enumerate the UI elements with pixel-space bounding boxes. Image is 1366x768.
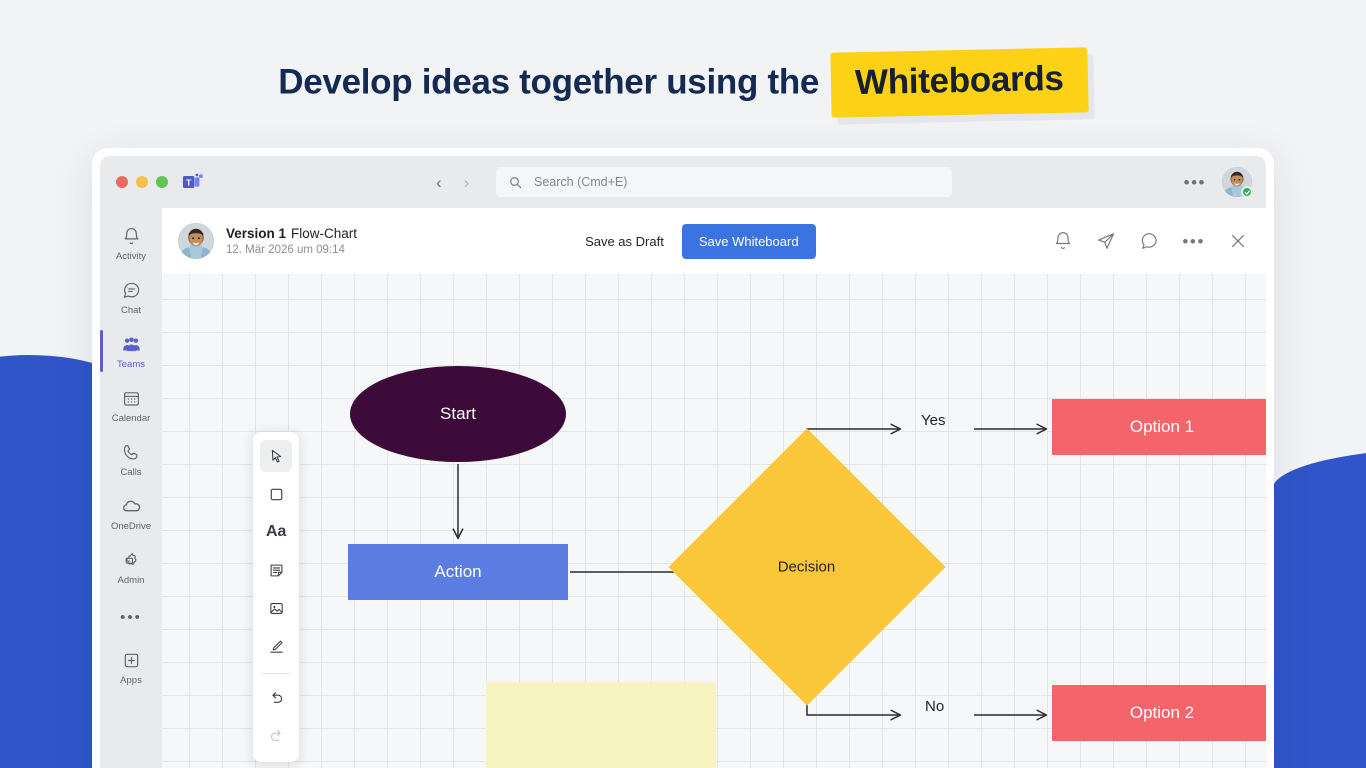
sidebar-item-activity[interactable]: Activity bbox=[100, 216, 162, 270]
palette-divider bbox=[262, 673, 290, 674]
sidebar-item-calls[interactable]: Calls bbox=[100, 432, 162, 486]
headline-highlight-badge: Whiteboards bbox=[830, 47, 1088, 117]
whiteboard-meta: Version 1Flow-Chart 12. Mär 2026 um 09:1… bbox=[226, 226, 357, 256]
page-root: Develop ideas together using theWhiteboa… bbox=[0, 0, 1366, 768]
flowchart-node-action[interactable]: Action bbox=[348, 544, 568, 600]
shape-rectangle-tool[interactable] bbox=[260, 478, 292, 510]
select-cursor-tool[interactable] bbox=[260, 440, 292, 472]
node-label: Start bbox=[440, 404, 476, 424]
search-input[interactable]: Search (Cmd+E) bbox=[496, 167, 952, 197]
titlebar-right-cluster: ••• bbox=[1184, 156, 1252, 208]
decorative-blue-shape-right bbox=[1272, 448, 1366, 768]
search-icon bbox=[509, 176, 522, 189]
flowchart-node-option-2[interactable]: Option 2 bbox=[1052, 685, 1266, 741]
window-navigation: ‹ › bbox=[436, 156, 469, 208]
app-left-rail: Activity Chat bbox=[100, 208, 162, 768]
phone-icon bbox=[122, 441, 141, 465]
microsoft-teams-logo-icon: T bbox=[182, 171, 204, 193]
window-traffic-lights bbox=[116, 176, 168, 188]
sidebar-item-label: Admin bbox=[118, 576, 145, 586]
avatar-photo bbox=[178, 223, 214, 259]
node-label: Option 2 bbox=[1130, 703, 1194, 723]
minimize-window-button[interactable] bbox=[136, 176, 148, 188]
whiteboard-timestamp: 12. Mär 2026 um 09:14 bbox=[226, 244, 357, 256]
send-paper-plane-icon[interactable] bbox=[1096, 231, 1116, 251]
teams-people-icon bbox=[121, 333, 142, 357]
sidebar-item-chat[interactable]: Chat bbox=[100, 270, 162, 324]
node-label: Decision bbox=[778, 559, 836, 576]
chat-bubble-icon bbox=[122, 279, 141, 303]
nav-forward-button[interactable]: › bbox=[464, 174, 470, 191]
node-label: Option 1 bbox=[1130, 417, 1194, 437]
sidebar-item-label: Calendar bbox=[112, 414, 151, 424]
nav-back-button[interactable]: ‹ bbox=[436, 174, 442, 191]
svg-text:T: T bbox=[186, 177, 192, 187]
plus-square-icon bbox=[122, 649, 141, 673]
save-whiteboard-button[interactable]: Save Whiteboard bbox=[682, 224, 816, 259]
text-tool-label: Aa bbox=[266, 523, 286, 541]
version-label: Version 1 bbox=[226, 226, 286, 241]
flowchart-node-option-1[interactable]: Option 1 bbox=[1052, 399, 1266, 455]
window-titlebar: T ‹ › Search (Cmd+E) ••• bbox=[100, 156, 1266, 208]
maximize-window-button[interactable] bbox=[156, 176, 168, 188]
whiteboard-actions: Save as Draft Save Whiteboard bbox=[585, 224, 816, 259]
whiteboard-canvas[interactable]: Start Action Decision Option 1 Option 2 bbox=[162, 274, 1266, 768]
svg-text:A: A bbox=[128, 559, 131, 563]
node-label: Action bbox=[434, 562, 481, 582]
window-body: Activity Chat bbox=[100, 208, 1266, 768]
whiteboard-header-icons: ••• bbox=[1053, 208, 1248, 274]
sidebar-item-label: Teams bbox=[117, 360, 145, 370]
text-tool[interactable]: Aa bbox=[260, 516, 292, 548]
search-placeholder: Search (Cmd+E) bbox=[534, 175, 627, 189]
titlebar-more-dots-icon[interactable]: ••• bbox=[1184, 174, 1206, 191]
author-avatar[interactable] bbox=[178, 223, 214, 259]
sidebar-item-onedrive[interactable]: OneDrive bbox=[100, 486, 162, 540]
sticky-note-tool[interactable] bbox=[260, 554, 292, 586]
whiteboard-name: Flow-Chart bbox=[291, 226, 357, 241]
close-window-button[interactable] bbox=[116, 176, 128, 188]
calendar-icon bbox=[122, 387, 141, 411]
sidebar-item-admin[interactable]: A Admin bbox=[100, 540, 162, 594]
comment-bubble-icon[interactable] bbox=[1139, 231, 1159, 251]
more-dots-icon[interactable]: ••• bbox=[1182, 233, 1205, 250]
sidebar-item-label: Chat bbox=[121, 306, 141, 316]
sidebar-item-label: Apps bbox=[120, 676, 142, 686]
whiteboard-pane: Version 1Flow-Chart 12. Mär 2026 um 09:1… bbox=[162, 208, 1266, 768]
page-title: Version 1Flow-Chart bbox=[226, 226, 357, 241]
headline-text: Develop ideas together using the bbox=[278, 63, 819, 102]
flowchart-node-start[interactable]: Start bbox=[350, 366, 566, 462]
image-tool[interactable] bbox=[260, 592, 292, 624]
edge-label-no: No bbox=[925, 698, 944, 715]
page-headline: Develop ideas together using theWhiteboa… bbox=[0, 50, 1366, 115]
undo-tool[interactable] bbox=[260, 682, 292, 714]
cloud-icon bbox=[121, 495, 142, 519]
sidebar-more-apps-button[interactable]: ••• bbox=[100, 594, 162, 640]
app-window-frame: T ‹ › Search (Cmd+E) ••• bbox=[92, 148, 1274, 768]
bell-icon bbox=[122, 225, 141, 249]
user-avatar[interactable] bbox=[1222, 167, 1252, 197]
redo-tool[interactable] bbox=[260, 720, 292, 752]
teams-app-window: T ‹ › Search (Cmd+E) ••• bbox=[100, 156, 1266, 768]
sidebar-item-label: Calls bbox=[120, 468, 141, 478]
flowchart-sticky-note[interactable]: Note bbox=[486, 682, 716, 768]
save-as-draft-button[interactable]: Save as Draft bbox=[585, 234, 664, 249]
pen-tool[interactable] bbox=[260, 630, 292, 662]
sidebar-item-label: Activity bbox=[116, 252, 146, 262]
sidebar-item-calendar[interactable]: Calendar bbox=[100, 378, 162, 432]
close-icon[interactable] bbox=[1228, 231, 1248, 251]
sidebar-item-label: OneDrive bbox=[111, 522, 151, 532]
admin-gear-icon: A bbox=[121, 549, 141, 573]
whiteboard-tool-palette: Aa bbox=[253, 432, 299, 762]
sidebar-item-apps[interactable]: Apps bbox=[100, 640, 162, 694]
bell-icon[interactable] bbox=[1053, 231, 1073, 251]
edge-label-yes: Yes bbox=[921, 412, 945, 429]
whiteboard-header: Version 1Flow-Chart 12. Mär 2026 um 09:1… bbox=[162, 208, 1266, 274]
sidebar-item-teams[interactable]: Teams bbox=[100, 324, 162, 378]
presence-available-badge bbox=[1241, 186, 1253, 198]
